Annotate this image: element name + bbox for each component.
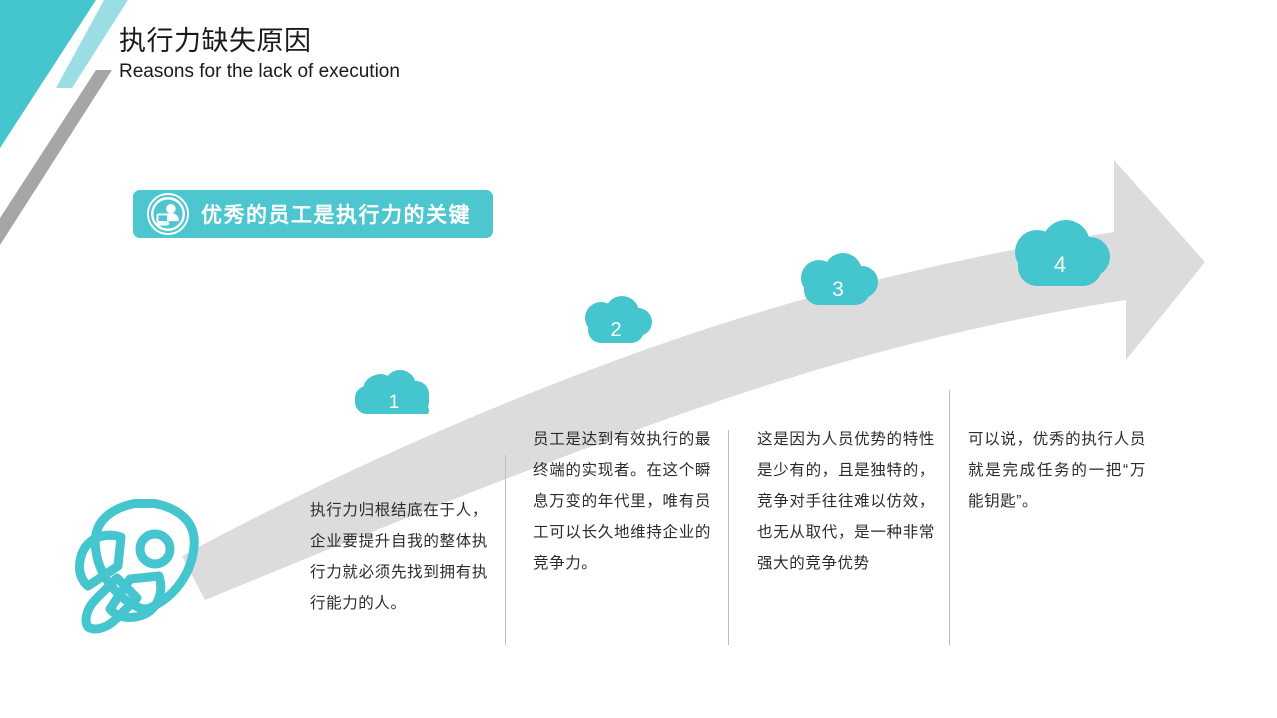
banner-label: 优秀的员工是执行力的关键 <box>201 199 471 229</box>
column-divider-2 <box>728 430 729 645</box>
column-divider-1 <box>505 455 506 645</box>
milestone-cloud-2[interactable]: 2 <box>585 296 652 343</box>
column-3-text: 这是因为人员优势的特性是少有的，且是独特的，竞争对手往往难以仿效，也无从取代，是… <box>757 424 935 579</box>
text-column-2: 员工是达到有效执行的最终端的实现者。在这个瞬息万变的年代里，唯有员工可以长久地维… <box>533 424 711 579</box>
column-1-text: 执行力归根结底在于人，企业要提升自我的整体执行力就必须先找到拥有执行能力的人。 <box>310 495 488 619</box>
column-2-text: 员工是达到有效执行的最终端的实现者。在这个瞬息万变的年代里，唯有员工可以长久地维… <box>533 424 711 579</box>
slide-canvas: 执行力缺失原因 Reasons for the lack of executio… <box>0 0 1277 718</box>
column-divider-3 <box>949 390 950 645</box>
milestone-number-1: 1 <box>389 392 400 413</box>
milestone-number-2: 2 <box>610 319 621 341</box>
rocket-icon <box>74 478 216 629</box>
milestone-number-3: 3 <box>832 278 844 301</box>
column-4-text: 可以说，优秀的执行人员就是完成任务的一把“万能钥匙”。 <box>968 424 1146 517</box>
text-column-3: 这是因为人员优势的特性是少有的，且是独特的，竞争对手往往难以仿效，也无从取代，是… <box>757 424 935 579</box>
text-column-4: 可以说，优秀的执行人员就是完成任务的一把“万能钥匙”。 <box>968 424 1146 517</box>
milestone-cloud-4[interactable]: 4 <box>1015 220 1110 286</box>
text-column-1: 执行力归根结底在于人，企业要提升自我的整体执行力就必须先找到拥有执行能力的人。 <box>310 495 488 619</box>
diagram-stage: 1 2 3 4 <box>0 0 1277 718</box>
milestone-cloud-3[interactable]: 3 <box>801 253 878 305</box>
milestone-cloud-1[interactable]: 1 <box>355 370 429 414</box>
highlight-banner[interactable]: 优秀的员工是执行力的关键 <box>133 190 493 238</box>
user-computer-icon <box>147 193 189 235</box>
milestone-number-4: 4 <box>1054 252 1066 277</box>
